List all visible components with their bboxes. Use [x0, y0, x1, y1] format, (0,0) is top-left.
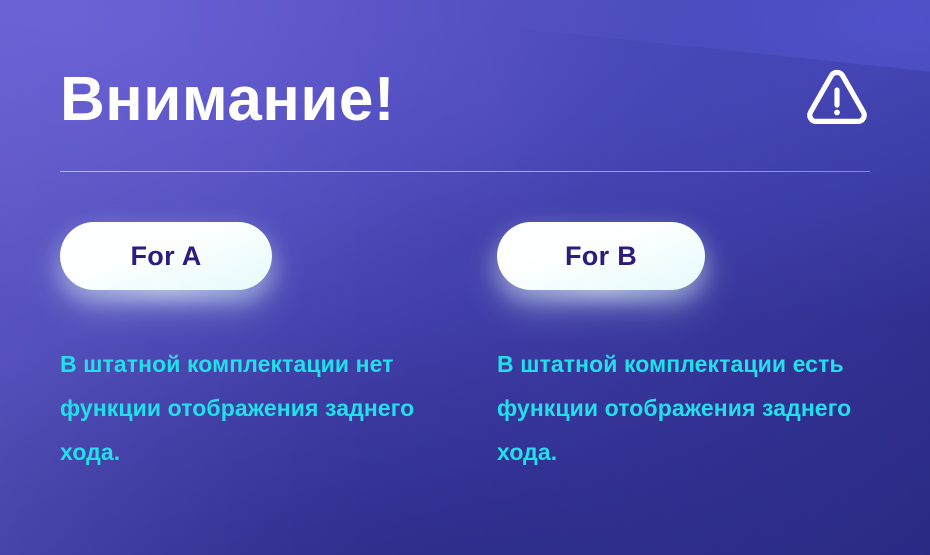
page-title: Внимание! [60, 52, 395, 148]
description-for-b: В штатной комплектации есть функции отоб… [497, 290, 879, 474]
description-for-a: В штатной комплектации нет функции отобр… [60, 290, 444, 474]
column-for-a: For A В штатной комплектации нет функции… [60, 222, 460, 474]
column-for-b: For B В штатной комплектации есть функци… [497, 222, 897, 474]
warning-triangle-icon [804, 66, 870, 128]
slide-root: Внимание! For A В штатной комплектации н… [0, 0, 930, 555]
header-divider [60, 171, 870, 172]
pill-button-for-b[interactable]: For B [497, 222, 705, 290]
header: Внимание! [60, 52, 870, 148]
pill-button-for-a[interactable]: For A [60, 222, 272, 290]
